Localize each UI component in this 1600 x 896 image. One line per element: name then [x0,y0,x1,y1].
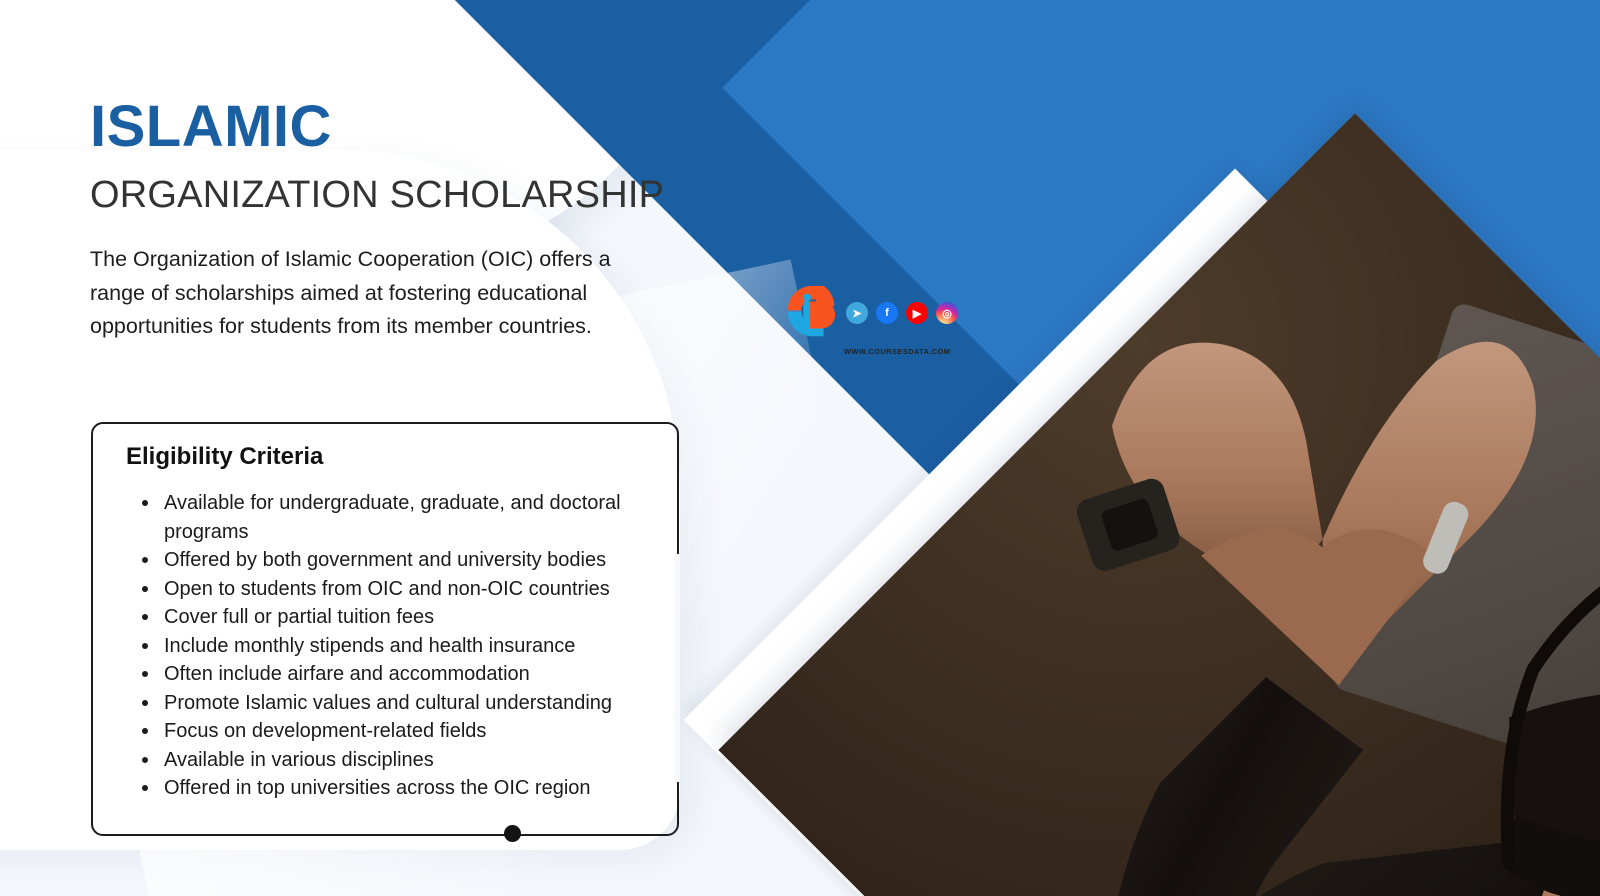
brand-row: COURSESDATA ➤ f ▶ ◎ [782,282,958,344]
social-links: ➤ f ▶ ◎ [846,302,958,324]
criteria-list-item-label: Available for undergraduate, graduate, a… [164,492,621,543]
bullet-icon [142,785,148,791]
criteria-list-item: Often include airfare and accommodation [138,660,658,689]
criteria-list-item: Available in various disciplines [138,746,658,775]
card-border-gap [674,554,680,782]
criteria-list-item-label: Offered by both government and universit… [164,549,606,571]
criteria-list-item: Include monthly stipends and health insu… [138,632,658,661]
bullet-icon [142,557,148,563]
criteria-list-item-label: Cover full or partial tuition fees [164,606,434,628]
eligibility-criteria-title: Eligibility Criteria [126,443,323,471]
bullet-icon [142,757,148,763]
facebook-icon[interactable]: f [876,302,898,324]
bullet-icon [142,614,148,620]
criteria-list-item: Available for undergraduate, graduate, a… [138,489,658,546]
criteria-list-item: Offered by both government and universit… [138,546,658,575]
bullet-icon [142,700,148,706]
criteria-list-item: Offered in top universities across the O… [138,774,658,803]
criteria-list-item-label: Often include airfare and accommodation [164,663,530,685]
criteria-list-item: Focus on development-related fields [138,717,658,746]
page-title-main: ISLAMIC [90,98,332,156]
bullet-icon [142,728,148,734]
brand-website-url: WWW.COURSESDATA.COM [844,347,950,356]
criteria-list-item: Open to students from OIC and non-OIC co… [138,575,658,604]
left-content-column: ISLAMIC ORGANIZATION SCHOLARSHIP The Org… [0,0,760,896]
eligibility-criteria-card: Eligibility Criteria Available for under… [91,422,679,836]
criteria-list-item: Cover full or partial tuition fees [138,603,658,632]
page-title-sub: ORGANIZATION SCHOLARSHIP [90,175,664,217]
brand-block: COURSESDATA ➤ f ▶ ◎ WWW.COURSESDATA.COM [782,282,958,356]
criteria-list-item-label: Focus on development-related fields [164,720,486,742]
bullet-icon [142,671,148,677]
criteria-list-item-label: Promote Islamic values and cultural unde… [164,692,612,714]
eligibility-criteria-list: Available for undergraduate, graduate, a… [138,489,658,803]
intro-description: The Organization of Islamic Cooperation … [90,243,618,344]
card-accent-dot [504,825,521,842]
coursesdata-logo-icon: COURSESDATA [782,282,840,344]
criteria-list-item-label: Include monthly stipends and health insu… [164,635,575,657]
instagram-icon[interactable]: ◎ [936,302,958,324]
criteria-list-item-label: Available in various disciplines [164,749,434,771]
youtube-icon[interactable]: ▶ [906,302,928,324]
bullet-icon [142,500,148,506]
telegram-icon[interactable]: ➤ [846,302,868,324]
bullet-icon [142,643,148,649]
criteria-list-item: Promote Islamic values and cultural unde… [138,689,658,718]
criteria-list-item-label: Offered in top universities across the O… [164,777,591,799]
bullet-icon [142,586,148,592]
criteria-list-item-label: Open to students from OIC and non-OIC co… [164,578,610,600]
